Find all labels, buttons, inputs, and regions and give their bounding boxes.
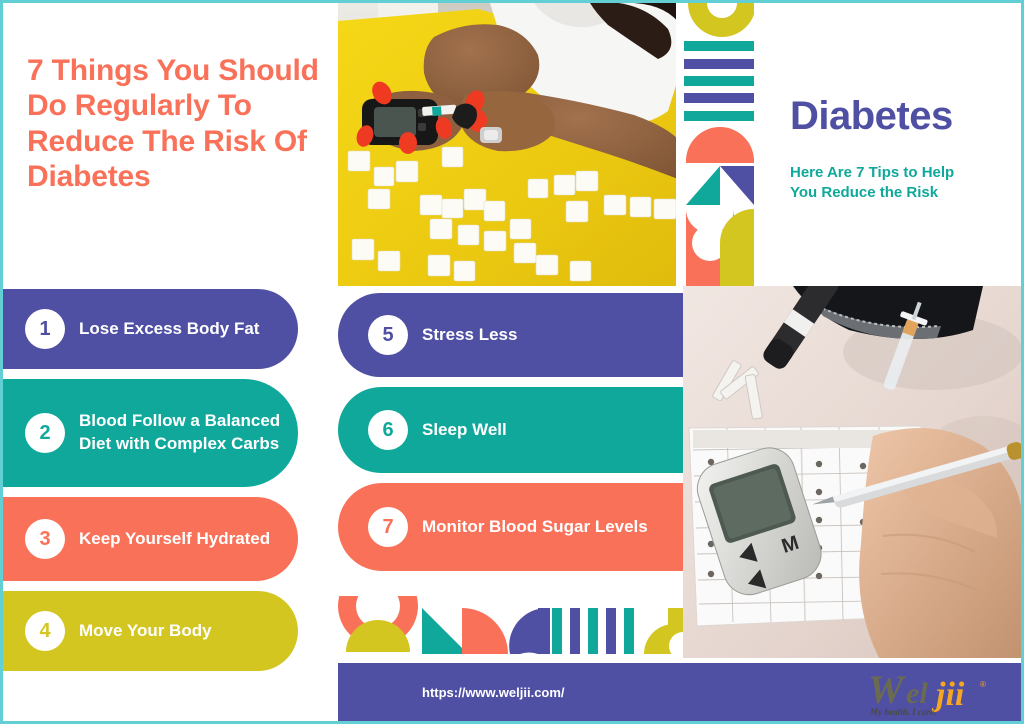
tip-label: Blood Follow a Balanced Diet with Comple… [79, 410, 288, 456]
tip-item-6[interactable]: 6 Sleep Well [338, 387, 683, 473]
tip-number: 7 [382, 516, 393, 539]
tip-item-5[interactable]: 5 Stress Less [338, 293, 683, 377]
tip-number: 2 [39, 422, 50, 445]
tip-item-7[interactable]: 7 Monitor Blood Sugar Levels [338, 483, 683, 571]
side-title: Diabetes [790, 96, 953, 136]
tip-number: 4 [39, 620, 50, 643]
tip-number: 5 [382, 324, 393, 347]
tip-number: 6 [382, 419, 393, 442]
side-heading-panel: Diabetes Here Are 7 Tips to Help You Red… [776, 3, 1024, 286]
footer-left-spacer [3, 671, 338, 724]
tip-label: Sleep Well [422, 419, 507, 442]
tip-label: Move Your Body [79, 620, 212, 643]
infographic-page: 7 Things You Should Do Regularly To Redu… [0, 0, 1024, 724]
website-url[interactable]: https://www.weljii.com/ [422, 685, 565, 700]
tip-number-badge: 1 [25, 309, 65, 349]
tip-number-badge: 2 [25, 413, 65, 453]
side-photo: M [683, 286, 1024, 658]
footer: https://www.weljii.com/ W el jii ® My he… [338, 663, 1024, 724]
tip-number: 3 [39, 528, 50, 551]
svg-text:el: el [906, 677, 928, 710]
tip-number-badge: 7 [368, 507, 408, 547]
title-panel: 7 Things You Should Do Regularly To Redu… [3, 3, 338, 286]
tip-label: Keep Yourself Hydrated [79, 528, 270, 551]
tip-number-badge: 5 [368, 315, 408, 355]
svg-text:My health. I care.: My health. I care. [869, 707, 936, 717]
tip-number-badge: 4 [25, 611, 65, 651]
top-photo [338, 3, 683, 286]
tip-item-2[interactable]: 2 Blood Follow a Balanced Diet with Comp… [3, 379, 298, 487]
tip-label: Monitor Blood Sugar Levels [422, 516, 648, 539]
tip-number-badge: 6 [368, 410, 408, 450]
tip-label: Stress Less [422, 324, 517, 347]
bottom-geometric-pattern [338, 596, 683, 663]
weljii-logo[interactable]: W el jii ® My health. I care. [866, 669, 1006, 719]
svg-text:W: W [868, 669, 906, 712]
tip-number-badge: 3 [25, 519, 65, 559]
tip-item-4[interactable]: 4 Move Your Body [3, 591, 298, 671]
tip-item-3[interactable]: 3 Keep Yourself Hydrated [3, 497, 298, 581]
tip-item-1[interactable]: 1 Lose Excess Body Fat [3, 289, 298, 369]
tip-label: Lose Excess Body Fat [79, 318, 259, 341]
svg-text:®: ® [980, 680, 986, 689]
page-title: 7 Things You Should Do Regularly To Redu… [27, 53, 327, 195]
top-geometric-pattern [676, 3, 776, 286]
tip-number: 1 [39, 318, 50, 341]
side-subtitle: Here Are 7 Tips to Help You Reduce the R… [790, 163, 980, 204]
